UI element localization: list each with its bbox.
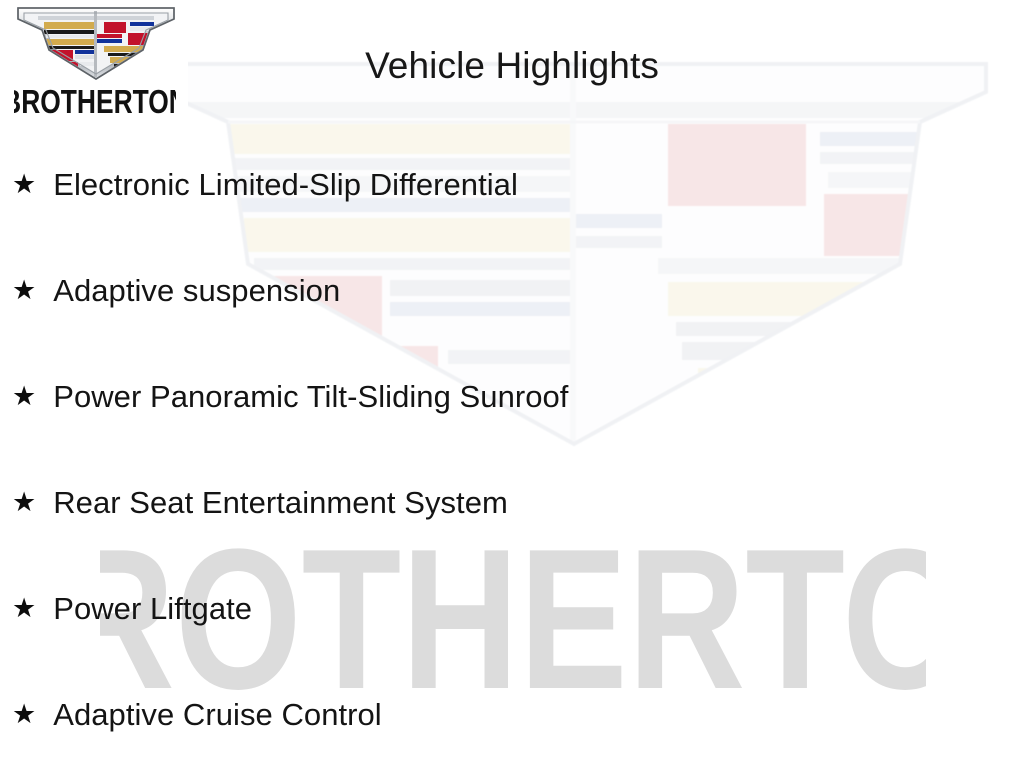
list-item-label: Adaptive Cruise Control xyxy=(53,696,382,734)
star-bullet-icon: ★ xyxy=(12,595,36,622)
star-bullet-icon: ★ xyxy=(12,489,36,516)
list-item: ★ Rear Seat Entertainment System xyxy=(12,484,508,522)
list-item-label: Rear Seat Entertainment System xyxy=(53,484,508,522)
dealer-name-logo: BROTHERTON xyxy=(14,85,176,119)
slide-content: BROTHERTON Vehicle Highlights ★ Electron… xyxy=(0,0,1024,768)
svg-text:BROTHERTON: BROTHERTON xyxy=(14,85,176,119)
list-item-label: Adaptive suspension xyxy=(53,272,340,310)
star-bullet-icon: ★ xyxy=(12,277,36,304)
list-item-label: Electronic Limited-Slip Differential xyxy=(53,166,518,204)
vehicle-highlights-slide: BROTHERTON xyxy=(0,0,1024,768)
list-item: ★ Power Liftgate xyxy=(12,590,252,628)
list-item: ★ Adaptive suspension xyxy=(12,272,340,310)
star-bullet-icon: ★ xyxy=(12,701,36,728)
list-item-label: Power Panoramic Tilt-Sliding Sunroof xyxy=(53,378,568,416)
list-item: ★ Electronic Limited-Slip Differential xyxy=(12,166,518,204)
cadillac-crest-icon xyxy=(16,5,176,81)
star-bullet-icon: ★ xyxy=(12,383,36,410)
list-item-label: Power Liftgate xyxy=(53,590,252,628)
list-item: ★ Adaptive Cruise Control xyxy=(12,696,382,734)
list-item: ★ Power Panoramic Tilt-Sliding Sunroof xyxy=(12,378,568,416)
star-bullet-icon: ★ xyxy=(12,171,36,198)
dealer-logo-block: BROTHERTON xyxy=(0,0,188,128)
